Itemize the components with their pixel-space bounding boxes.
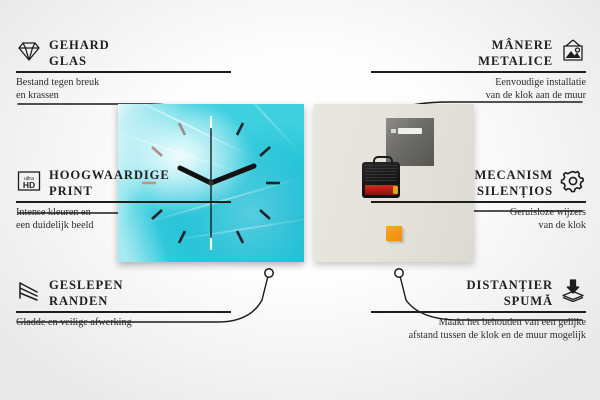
framed-picture-icon: [560, 38, 586, 64]
feature-header: MÂNERE METALICE: [371, 38, 586, 69]
arrow-onto-layers-icon: [560, 278, 586, 304]
gear-icon: [560, 168, 586, 194]
divider: [16, 311, 231, 313]
diamond-icon: [16, 38, 42, 64]
feature-header: ultra HD HOOGWAARDIGE PRINT: [16, 168, 231, 199]
feature-silent-mechanism: MECANISM SILENȚIOS Geruisloze wijzers va…: [371, 168, 586, 232]
feature-title: GEHARD GLAS: [49, 38, 110, 69]
divider: [16, 71, 231, 73]
tick-10: [152, 147, 162, 156]
tick-4: [260, 210, 270, 219]
divider: [16, 201, 231, 203]
diagonal-lines-icon: [16, 278, 42, 304]
feature-title: DISTANȚIER SPUMĂ: [467, 278, 553, 309]
tick-1: [237, 123, 243, 135]
feature-title: GESLEPEN RANDEN: [49, 278, 123, 309]
tick-11: [179, 123, 185, 135]
feature-header: DISTANȚIER SPUMĂ: [371, 278, 586, 309]
feature-header: GESLEPEN RANDEN: [16, 278, 231, 309]
feature-metal-hooks: MÂNERE METALICE Eenvoudige installatie v…: [371, 38, 586, 102]
tick-5: [237, 231, 243, 243]
feature-foam-spacer: DISTANȚIER SPUMĂ Maakt het behouden van …: [371, 278, 586, 342]
feature-tempered-glass: GEHARD GLAS Bestand tegen breuk en krass…: [16, 38, 231, 102]
tick-7: [179, 231, 185, 243]
feature-subtitle: Eenvoudige installatie van de klok aan d…: [371, 76, 586, 102]
feature-subtitle: Maakt het behouden van een gelijke afsta…: [331, 316, 586, 342]
hanger-slot: [398, 128, 422, 134]
infographic-canvas: GEHARD GLAS Bestand tegen breuk en krass…: [0, 0, 600, 400]
divider: [371, 311, 586, 313]
tick-2: [260, 147, 270, 156]
ultra-hd-icon: ultra HD: [16, 168, 42, 194]
svg-text:HD: HD: [23, 180, 35, 190]
feature-title: MECANISM SILENȚIOS: [474, 168, 553, 199]
connector-dot-edges: [265, 269, 273, 277]
divider: [371, 201, 586, 203]
feature-polished-edges: GESLEPEN RANDEN Gladde en veilige afwerk…: [16, 278, 231, 329]
feature-header: GEHARD GLAS: [16, 38, 231, 69]
feature-header: MECANISM SILENȚIOS: [371, 168, 586, 199]
feature-subtitle: Gladde en veilige afwerking: [16, 316, 231, 329]
metal-hanger: [386, 118, 434, 166]
connector-dot-spacer: [395, 269, 403, 277]
feature-subtitle: Intense kleuren en een duidelijk beeld: [16, 206, 231, 232]
feature-high-quality-print: ultra HD HOOGWAARDIGE PRINT Intense kleu…: [16, 168, 231, 232]
feature-subtitle: Bestand tegen breuk en krassen: [16, 76, 231, 102]
feature-title: HOOGWAARDIGE PRINT: [49, 168, 170, 199]
divider: [371, 71, 586, 73]
feature-subtitle: Geruisloze wijzers van de klok: [371, 206, 586, 232]
feature-title: MÂNERE METALICE: [478, 38, 553, 69]
